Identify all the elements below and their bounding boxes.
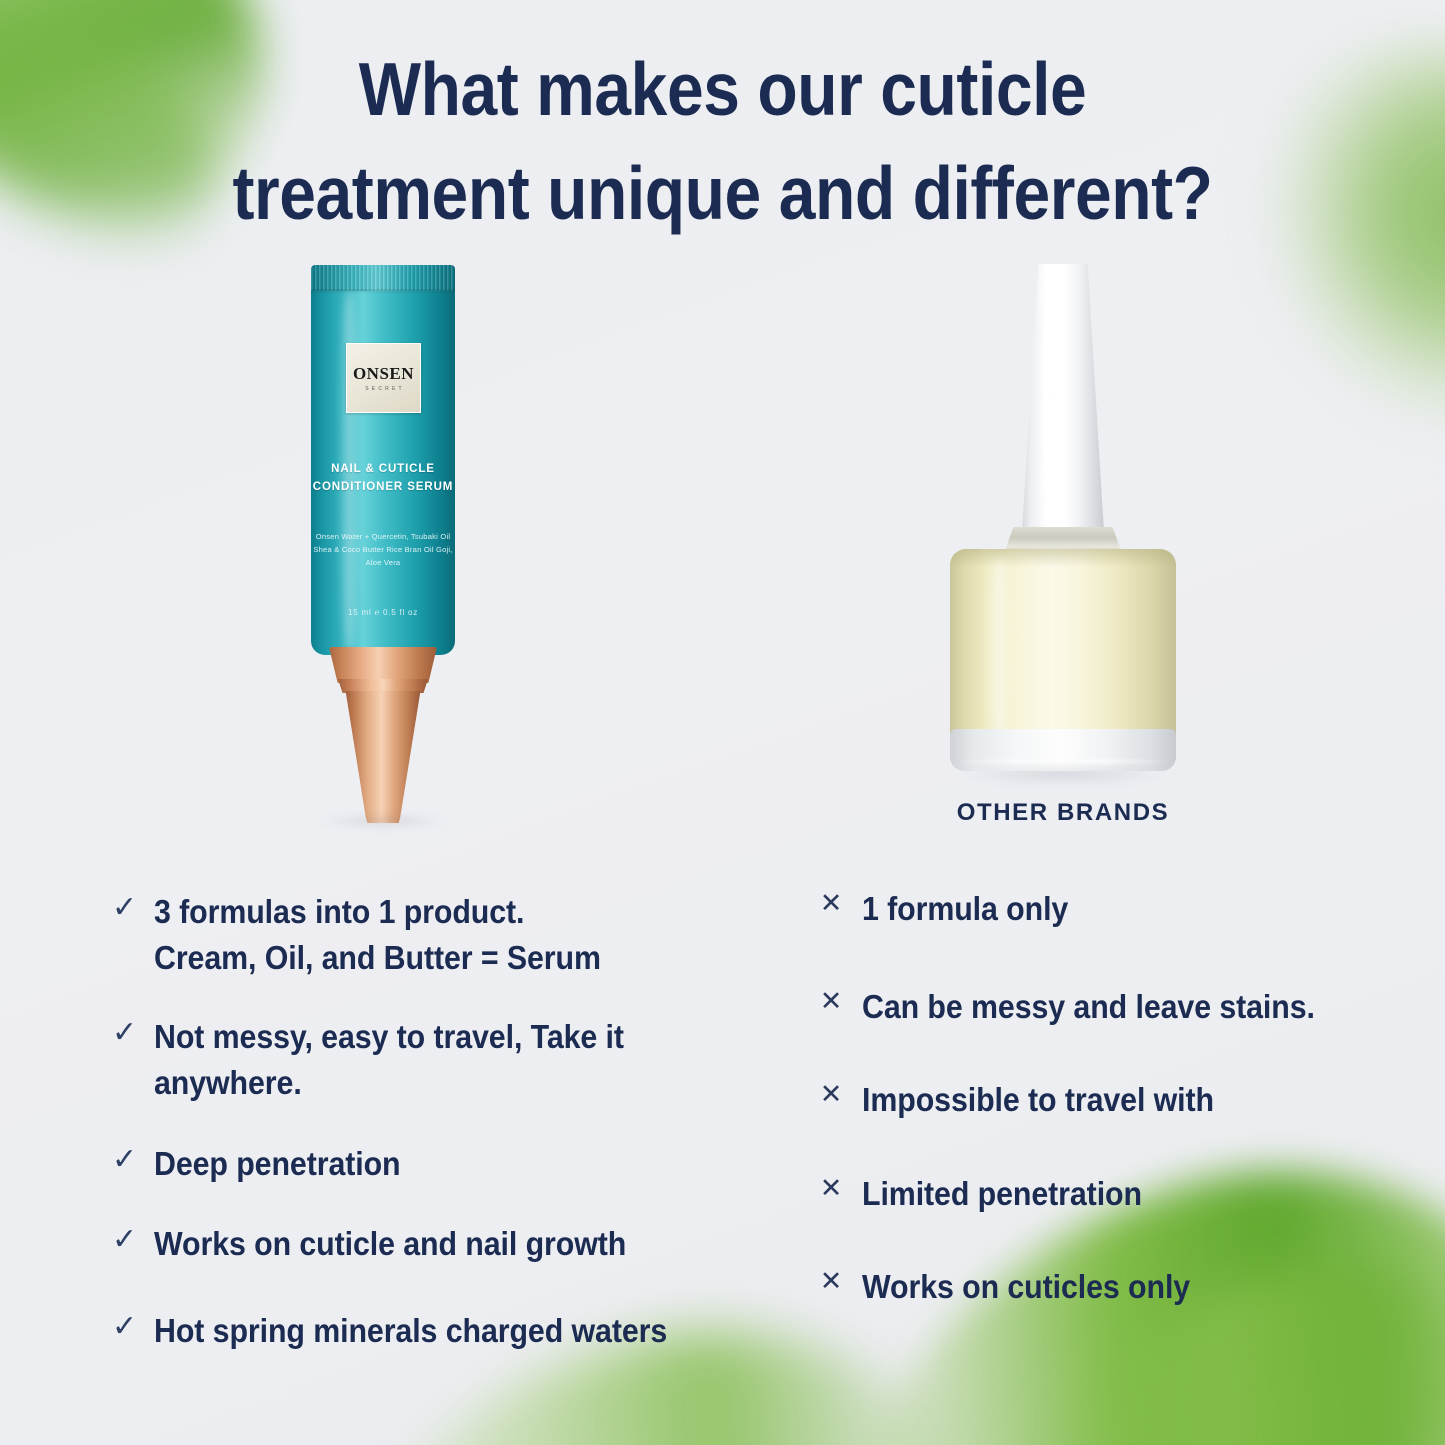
pros-item-text: 3 formulas into 1 product. Cream, Oil, a… bbox=[154, 889, 601, 980]
cons-item-text: Can be messy and leave stains. bbox=[862, 984, 1315, 1030]
tube-brand-label: ONSEN SECRET bbox=[346, 343, 421, 413]
cons-list-item: ✕ Impossible to travel with bbox=[820, 1077, 1445, 1123]
pros-list-item: ✓ Works on cuticle and nail growth bbox=[112, 1221, 806, 1267]
pros-column: ✓ 3 formulas into 1 product. Cream, Oil,… bbox=[0, 881, 806, 1354]
cons-list-item: ✕ Can be messy and leave stains. bbox=[820, 984, 1445, 1030]
tube-volume-text: 15 ml ℮ 0.5 fl oz bbox=[311, 608, 455, 617]
pros-item-text: Works on cuticle and nail growth bbox=[154, 1221, 626, 1267]
pros-item-text: Not messy, easy to travel, Take it anywh… bbox=[154, 1014, 624, 1105]
cross-icon: ✕ bbox=[820, 886, 862, 917]
check-icon: ✓ bbox=[112, 1014, 154, 1048]
tube-crimp-seal bbox=[311, 265, 455, 291]
infographic-page: What makes our cuticle treatment unique … bbox=[0, 0, 1445, 1445]
check-icon: ✓ bbox=[112, 1308, 154, 1342]
cross-icon: ✕ bbox=[820, 1171, 862, 1202]
tube-neck bbox=[338, 679, 428, 693]
pros-list-item: ✓ 3 formulas into 1 product. Cream, Oil,… bbox=[112, 889, 806, 980]
comparison-lists: ✓ 3 formulas into 1 product. Cream, Oil,… bbox=[0, 859, 1445, 1354]
brand-name: ONSEN bbox=[353, 365, 414, 382]
page-title-line-2: treatment unique and different? bbox=[148, 142, 1296, 246]
page-title-line-1: What makes our cuticle bbox=[148, 38, 1296, 142]
tube-ingredients-list: Onsen Water + Quercetin, Tsubaki Oil She… bbox=[311, 530, 455, 569]
cons-item-text: Limited penetration bbox=[862, 1171, 1142, 1217]
cons-list-item: ✕ Works on cuticles only bbox=[820, 1264, 1445, 1310]
bottle-drop-shadow bbox=[958, 764, 1168, 784]
check-icon: ✓ bbox=[112, 1221, 154, 1255]
tube-drop-shadow bbox=[315, 813, 451, 829]
page-title: What makes our cuticle treatment unique … bbox=[87, 0, 1359, 245]
brand-tagline: SECRET bbox=[365, 386, 404, 392]
pros-item-text: Hot spring minerals charged waters bbox=[154, 1308, 667, 1354]
cons-item-text: Works on cuticles only bbox=[862, 1264, 1190, 1310]
bottle-body-oil bbox=[950, 549, 1176, 747]
tube-applicator-nozzle bbox=[344, 691, 422, 823]
cross-icon: ✕ bbox=[820, 1264, 862, 1295]
cons-item-text: Impossible to travel with bbox=[862, 1077, 1214, 1123]
other-brands-label: OTHER BRANDS bbox=[898, 799, 1228, 827]
pros-list-item: ✓ Hot spring minerals charged waters bbox=[112, 1308, 806, 1354]
cross-icon: ✕ bbox=[820, 1077, 862, 1108]
pros-list-item: ✓ Deep penetration bbox=[112, 1141, 806, 1187]
cross-icon: ✕ bbox=[820, 984, 862, 1015]
bottle-cap bbox=[1022, 264, 1104, 532]
bottle-cap-highlight bbox=[1042, 273, 1055, 517]
cons-item-text: 1 formula only bbox=[862, 886, 1068, 932]
cons-column: ✕ 1 formula only ✕ Can be messy and leav… bbox=[806, 881, 1445, 1354]
pros-item-text: Deep penetration bbox=[154, 1141, 401, 1187]
pros-list-item: ✓ Not messy, easy to travel, Take it any… bbox=[112, 1014, 806, 1105]
bottle-gloss-highlight bbox=[986, 559, 1012, 739]
product-comparison-images: ONSEN SECRET NAIL & CUTICLE CONDITIONER … bbox=[0, 259, 1445, 859]
tube-product-title: NAIL & CUTICLE CONDITIONER SERUM bbox=[311, 461, 455, 497]
onsen-product-tube: ONSEN SECRET NAIL & CUTICLE CONDITIONER … bbox=[311, 265, 455, 825]
check-icon: ✓ bbox=[112, 889, 154, 923]
tube-shoulder bbox=[329, 647, 437, 683]
cons-list-item: ✕ Limited penetration bbox=[820, 1171, 1445, 1217]
cons-list-item: ✕ 1 formula only bbox=[820, 886, 1445, 932]
check-icon: ✓ bbox=[112, 1141, 154, 1175]
competitor-product-bottle: OTHER BRANDS bbox=[938, 259, 1188, 799]
tube-body bbox=[311, 265, 455, 655]
